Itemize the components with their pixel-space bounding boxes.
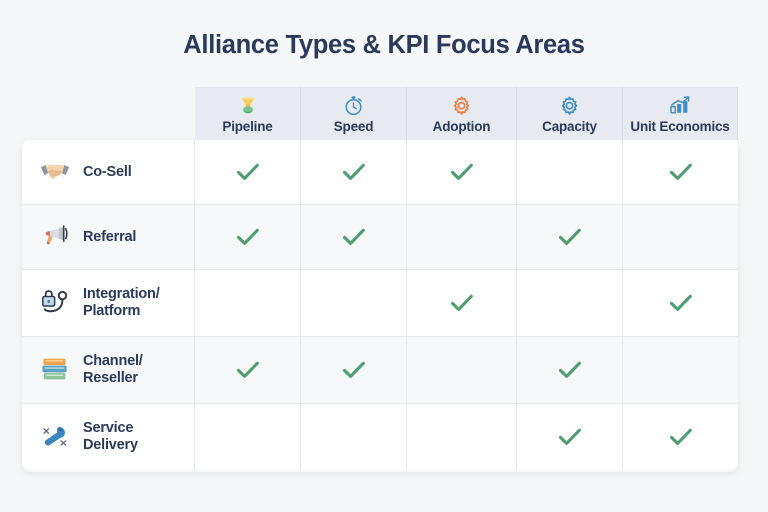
page-title: Alliance Types & KPI Focus Areas bbox=[0, 28, 768, 62]
gear-blue-icon bbox=[559, 94, 580, 116]
check-icon bbox=[236, 162, 260, 182]
handshake-icon bbox=[38, 160, 72, 184]
column-header-adoption[interactable]: Adoption bbox=[407, 87, 517, 140]
matrix-cell[interactable] bbox=[517, 337, 623, 404]
check-icon bbox=[342, 360, 366, 380]
check-icon bbox=[669, 427, 693, 447]
matrix-cell[interactable] bbox=[195, 205, 301, 270]
column-header-label: Unit Economics bbox=[630, 119, 729, 134]
matrix-cell[interactable] bbox=[195, 140, 301, 205]
column-header-label: Speed bbox=[334, 119, 374, 134]
matrix-cell[interactable] bbox=[301, 337, 407, 404]
matrix-cell[interactable] bbox=[195, 337, 301, 404]
row-header-referral[interactable]: Referral bbox=[22, 205, 195, 270]
check-icon bbox=[450, 293, 474, 313]
check-icon bbox=[342, 162, 366, 182]
row-header-label: Integration/ Platform bbox=[83, 286, 160, 320]
gear-orange-icon bbox=[451, 94, 472, 116]
megaphone-icon bbox=[38, 224, 72, 250]
matrix-cell[interactable] bbox=[517, 205, 623, 270]
check-icon bbox=[342, 227, 366, 247]
matrix-cell[interactable] bbox=[195, 270, 301, 337]
column-header-unit-economics[interactable]: Unit Economics bbox=[623, 87, 738, 140]
matrix-cell[interactable] bbox=[407, 270, 517, 337]
column-header-label: Adoption bbox=[433, 119, 491, 134]
check-icon bbox=[558, 227, 582, 247]
matrix-corner-cell bbox=[22, 87, 195, 140]
check-icon bbox=[236, 360, 260, 380]
alliance-kpi-matrix: Pipeline Speed bbox=[22, 87, 738, 472]
bar-chart-up-icon bbox=[669, 94, 691, 116]
matrix-cell[interactable] bbox=[623, 337, 738, 404]
matrix-cell[interactable] bbox=[517, 140, 623, 205]
row-header-label: Service Delivery bbox=[83, 420, 138, 454]
matrix-cell[interactable] bbox=[301, 404, 407, 470]
row-header-channel-reseller[interactable]: Channel/ Reseller bbox=[22, 337, 195, 404]
wrench-icon bbox=[38, 424, 72, 450]
check-icon bbox=[236, 227, 260, 247]
matrix-cell[interactable] bbox=[301, 140, 407, 205]
check-icon bbox=[669, 293, 693, 313]
matrix-cell[interactable] bbox=[407, 404, 517, 470]
column-header-label: Pipeline bbox=[222, 119, 272, 134]
check-icon bbox=[450, 162, 474, 182]
column-header-pipeline[interactable]: Pipeline bbox=[195, 87, 301, 140]
row-header-label: Referral bbox=[83, 229, 136, 246]
matrix-cell[interactable] bbox=[301, 270, 407, 337]
matrix-cell[interactable] bbox=[517, 270, 623, 337]
matrix-cell[interactable] bbox=[301, 205, 407, 270]
lock-link-icon bbox=[38, 289, 72, 317]
column-header-speed[interactable]: Speed bbox=[301, 87, 407, 140]
column-header-label: Capacity bbox=[542, 119, 597, 134]
row-header-label: Co-Sell bbox=[83, 164, 132, 181]
matrix-cell[interactable] bbox=[407, 205, 517, 270]
matrix-cell[interactable] bbox=[407, 337, 517, 404]
stopwatch-icon bbox=[343, 94, 364, 116]
books-stack-icon bbox=[38, 356, 72, 384]
matrix-grid: Pipeline Speed bbox=[22, 87, 738, 470]
check-icon bbox=[558, 360, 582, 380]
column-header-capacity[interactable]: Capacity bbox=[517, 87, 623, 140]
matrix-cell[interactable] bbox=[623, 140, 738, 205]
matrix-cell[interactable] bbox=[195, 404, 301, 470]
row-header-integration-platform[interactable]: Integration/ Platform bbox=[22, 270, 195, 337]
row-header-co-sell[interactable]: Co-Sell bbox=[22, 140, 195, 205]
matrix-cell[interactable] bbox=[623, 270, 738, 337]
check-icon bbox=[558, 427, 582, 447]
matrix-cell[interactable] bbox=[407, 140, 517, 205]
funnel-icon bbox=[238, 94, 258, 116]
row-header-label: Channel/ Reseller bbox=[83, 353, 143, 387]
matrix-cell[interactable] bbox=[623, 205, 738, 270]
matrix-cell[interactable] bbox=[517, 404, 623, 470]
row-header-service-delivery[interactable]: Service Delivery bbox=[22, 404, 195, 470]
matrix-cell[interactable] bbox=[623, 404, 738, 470]
check-icon bbox=[669, 162, 693, 182]
